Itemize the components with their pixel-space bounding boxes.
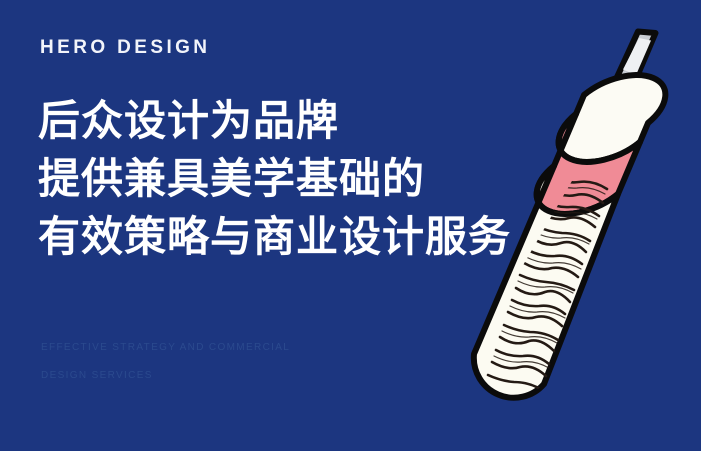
brand-eyebrow: HERO DESIGN xyxy=(40,38,210,57)
nib-body xyxy=(606,32,656,109)
nib-highlight xyxy=(623,38,651,75)
headline-line-3: 有效策略与商业设计服务 xyxy=(38,208,518,266)
ferrule-body xyxy=(559,75,666,162)
subtitle-line-2: DESIGN SERVICES xyxy=(41,362,341,390)
headline-line-2: 提供兼具美学基础的 xyxy=(38,150,518,208)
pink-band xyxy=(537,114,640,214)
subtitle-line-1: EFFECTIVE STRATEGY AND COMMERCIAL xyxy=(41,334,341,362)
headline-line-1: 后众设计为品牌 xyxy=(38,92,518,150)
page-title: 后众设计为品牌 提供兼具美学基础的 有效策略与商业设计服务 xyxy=(38,92,518,266)
metal-nib-icon xyxy=(606,32,656,109)
subtitle-block: EFFECTIVE STRATEGY AND COMMERCIAL DESIGN… xyxy=(41,334,341,390)
hero-banner: HERO DESIGN 后众设计为品牌 提供兼具美学基础的 有效策略与商业设计服… xyxy=(0,0,701,451)
pink-band-group xyxy=(537,114,640,214)
ferrule-group xyxy=(559,75,666,162)
